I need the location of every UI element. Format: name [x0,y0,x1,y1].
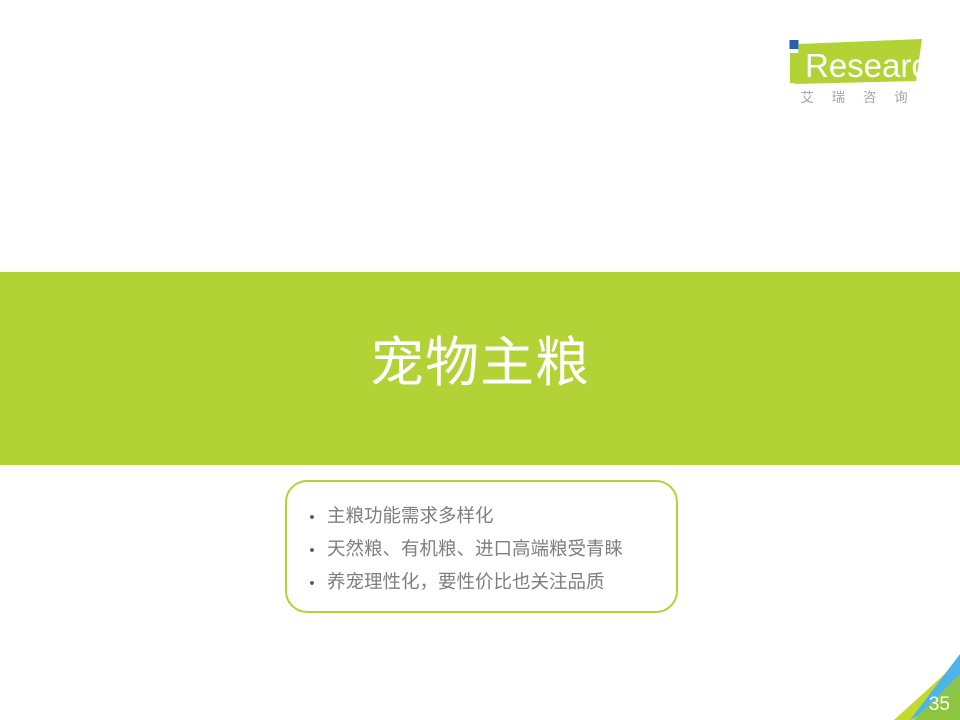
list-item: • 天然粮、有机粮、进口高端粮受青睐 [297,532,623,565]
list-item: • 养宠理性化，要性价比也关注品质 [297,565,623,598]
bullet-dot-icon: • [297,501,327,534]
bullet-dot-icon: • [297,534,327,567]
bullet-text: 养宠理性化，要性价比也关注品质 [327,565,605,598]
logo-subtitle: 艾 瑞 咨 询 [783,88,925,108]
slide-canvas: Research 艾 瑞 咨 询 宠物主粮 • 主粮功能需求多样化 • 天然粮、… [0,0,960,720]
bullet-list: • 主粮功能需求多样化 • 天然粮、有机粮、进口高端粮受青睐 • 养宠理性化，要… [297,499,623,598]
iresearch-logo-mark: Research [783,36,925,88]
bullet-card: • 主粮功能需求多样化 • 天然粮、有机粮、进口高端粮受青睐 • 养宠理性化，要… [285,480,678,613]
page-number: 35 [929,694,950,716]
logo-i-stem [790,53,798,83]
bullet-dot-icon: • [297,567,327,600]
page-title: 宠物主粮 [0,330,960,396]
bullet-text: 天然粮、有机粮、进口高端粮受青睐 [327,532,623,565]
list-item: • 主粮功能需求多样化 [297,499,623,532]
iresearch-logo: Research 艾 瑞 咨 询 [783,36,925,114]
logo-wordmark: Research [805,47,925,84]
bullet-text: 主粮功能需求多样化 [327,499,494,532]
logo-i-dot [790,40,799,49]
